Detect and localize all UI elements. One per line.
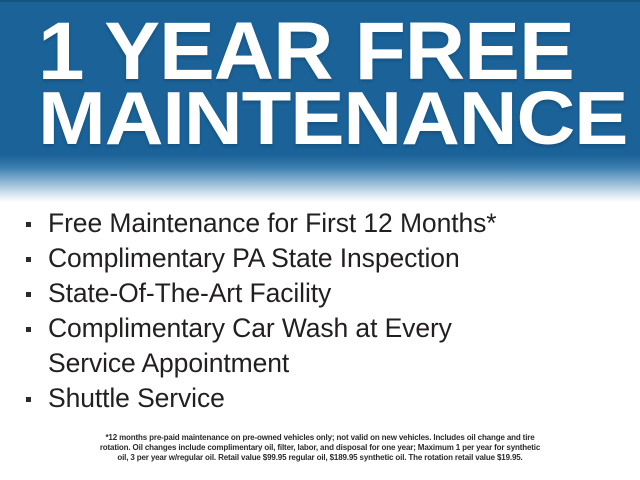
list-item-label: State-Of-The-Art Facility: [36, 276, 640, 311]
square-bullet-icon: [26, 276, 36, 297]
list-item-label: Shuttle Service: [36, 381, 640, 416]
disclaimer-text: *12 months pre-paid maintenance on pre-o…: [0, 433, 640, 464]
list-item-label: Free Maintenance for First 12 Months*: [36, 206, 640, 241]
list-item: State-Of-The-Art Facility: [0, 276, 640, 311]
list-item-continuation: Service Appointment: [0, 346, 640, 381]
headline-line-2: MAINTENANCE: [38, 84, 640, 153]
square-bullet-icon: [26, 206, 36, 227]
benefits-list: Free Maintenance for First 12 Months* Co…: [0, 206, 640, 416]
list-item: Shuttle Service: [0, 381, 640, 416]
disclaimer-line-2: rotation. Oil changes include compliment…: [0, 443, 640, 453]
promotional-advertisement: 1 YEAR FREE MAINTENANCE Free Maintenance…: [0, 0, 640, 480]
list-item-label: Complimentary PA State Inspection: [36, 241, 640, 276]
disclaimer-line-3: oil, 3 per year w/regular oil. Retail va…: [0, 453, 640, 463]
list-item-label-wrapped: Service Appointment: [36, 346, 640, 381]
bullet-spacer: [26, 346, 36, 367]
square-bullet-icon: [26, 241, 36, 262]
headline-banner: 1 YEAR FREE MAINTENANCE: [0, 0, 640, 202]
banner-top-edge: [0, 0, 640, 2]
square-bullet-icon: [26, 381, 36, 402]
list-item: Free Maintenance for First 12 Months*: [0, 206, 640, 241]
list-item: Complimentary Car Wash at Every: [0, 311, 640, 346]
list-item-label: Complimentary Car Wash at Every: [36, 311, 640, 346]
disclaimer-line-1: *12 months pre-paid maintenance on pre-o…: [0, 433, 640, 443]
square-bullet-icon: [26, 311, 36, 332]
list-item: Complimentary PA State Inspection: [0, 241, 640, 276]
